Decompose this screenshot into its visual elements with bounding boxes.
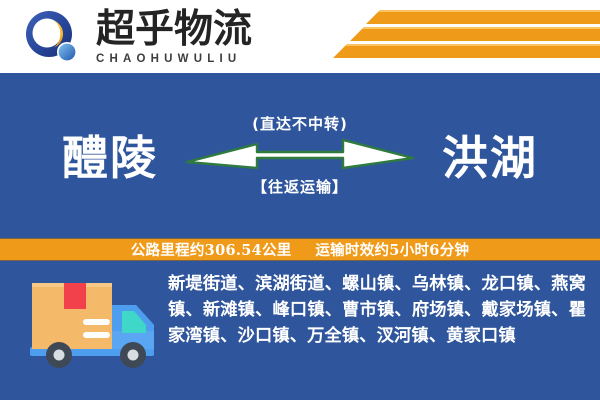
destination-city: 洪湖: [442, 122, 538, 188]
info-bar-container: 公路里程约306.54公里 运输时效约5小时6分钟: [0, 236, 600, 263]
info-bar: 公路里程约306.54公里 运输时效约5小时6分钟: [0, 238, 600, 261]
header: 超乎物流 CHAOHUWULIU: [0, 0, 600, 73]
delivery-truck-icon: [28, 275, 163, 377]
brand-name-cn: 超乎物流: [96, 8, 266, 52]
coverage-panel: 新堤街道、滨湖街道、螺山镇、乌林镇、龙口镇、燕窝镇、新滩镇、峰口镇、曹市镇、府场…: [0, 263, 600, 400]
decorative-stripes-icon: [270, 0, 600, 73]
transit-time-text: 运输时效约5小时6分钟: [315, 242, 469, 259]
direct-service-note: (直达不中转): [170, 113, 430, 134]
origin-city: 醴陵: [62, 122, 158, 188]
bidirectional-arrow-icon: [185, 136, 415, 172]
logistics-route-banner: 超乎物流 CHAOHUWULIU 醴陵 (直达不中转) 【往返运输】: [0, 0, 600, 400]
round-trip-note: 【往返运输】: [170, 176, 430, 197]
company-logo-icon: [24, 10, 80, 66]
brand-block: 超乎物流 CHAOHUWULIU: [96, 8, 266, 65]
route-panel: 醴陵 (直达不中转) 【往返运输】 洪湖: [0, 73, 600, 236]
info-bar-row: 公路里程约306.54公里 运输时效约5小时6分钟: [131, 239, 470, 260]
route-middle: (直达不中转) 【往返运输】: [170, 113, 430, 197]
coverage-areas-text: 新堤街道、滨湖街道、螺山镇、乌林镇、龙口镇、燕窝镇、新滩镇、峰口镇、曹市镇、府场…: [168, 271, 586, 349]
road-distance-text: 公路里程约306.54公里: [131, 242, 292, 259]
brand-name-en: CHAOHUWULIU: [96, 53, 266, 65]
